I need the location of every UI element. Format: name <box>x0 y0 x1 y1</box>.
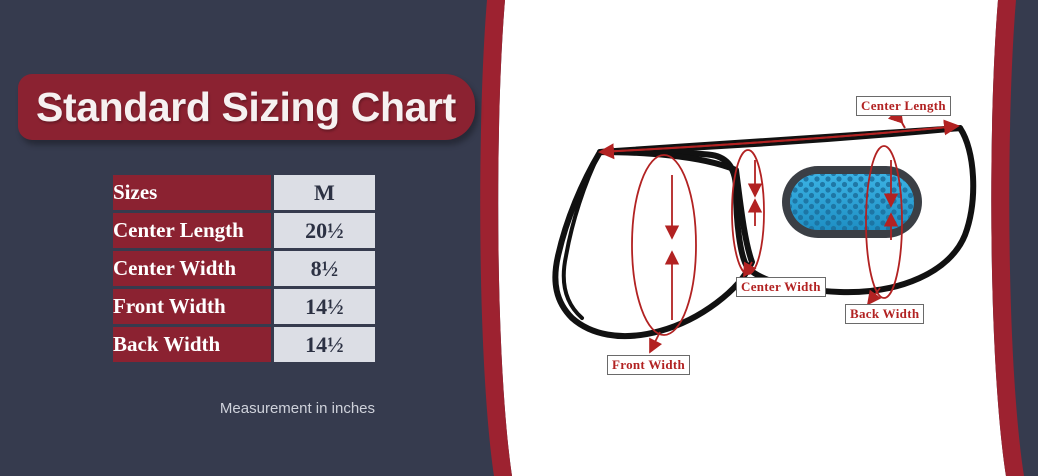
row-label-back-width: Back Width <box>113 327 271 362</box>
row-value-center-length: 20½ <box>271 213 375 248</box>
table-header-sizes: Sizes <box>113 175 271 210</box>
sizing-chart-page: Standard Sizing Chart Sizes M Center Len… <box>0 0 1038 476</box>
table-row: Back Width 14½ <box>113 327 375 362</box>
table-row: Center Width 8½ <box>113 251 375 286</box>
callout-center-length: Center Length <box>856 96 951 116</box>
table-header-size-value: M <box>271 175 375 210</box>
white-panel <box>498 0 1006 476</box>
row-label-center-width: Center Width <box>113 251 271 286</box>
callout-center-width: Center Width <box>736 277 826 297</box>
table-row: Front Width 14½ <box>113 289 375 324</box>
page-title: Standard Sizing Chart <box>18 84 456 131</box>
row-value-back-width: 14½ <box>271 327 375 362</box>
measurement-footnote: Measurement in inches <box>113 400 375 417</box>
row-value-center-width: 8½ <box>271 251 375 286</box>
row-value-front-width: 14½ <box>271 289 375 324</box>
sizing-table: Sizes M Center Length 20½ Center Width 8… <box>113 172 375 365</box>
row-label-center-length: Center Length <box>113 213 271 248</box>
callout-back-width: Back Width <box>845 304 924 324</box>
callout-front-width: Front Width <box>607 355 690 375</box>
table-row: Sizes M <box>113 175 375 210</box>
table-row: Center Length 20½ <box>113 213 375 248</box>
title-banner: Standard Sizing Chart <box>18 74 475 140</box>
row-label-front-width: Front Width <box>113 289 271 324</box>
